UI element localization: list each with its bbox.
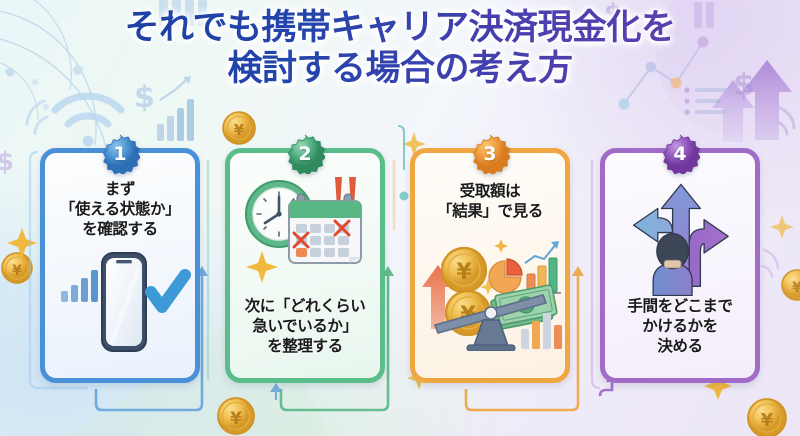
card-2-line-2: 急いでいるか」 bbox=[245, 316, 366, 336]
card-4-line-2: かけるかを bbox=[627, 316, 732, 336]
wifi-icon bbox=[762, 250, 778, 276]
card-4-text: 手間をどこまで かけるかを 決める bbox=[627, 296, 732, 356]
yen-coin-icon: ¥ bbox=[782, 270, 800, 300]
card-2-text: 次に「どれくらい 急いでいるか」 を整理する bbox=[245, 296, 366, 356]
dollar-sign-icon: $ bbox=[0, 147, 14, 177]
step-number: 1 bbox=[113, 143, 126, 165]
step-number: 2 bbox=[298, 143, 311, 165]
signal-bars-icon bbox=[61, 270, 98, 302]
svg-text:¥: ¥ bbox=[230, 409, 242, 429]
card-3-line-1: 受取額は bbox=[437, 181, 543, 201]
card-3-line-2: 「結果」で見る bbox=[437, 201, 543, 221]
card-3-text: 受取額は 「結果」で見る bbox=[437, 181, 543, 221]
list-icon bbox=[684, 87, 727, 114]
step-card-2[interactable]: 2 bbox=[225, 148, 385, 383]
card-4-line-3: 決める bbox=[627, 336, 732, 356]
yen-coin-icon: ¥ bbox=[748, 399, 786, 436]
card-2-line-3: を整理する bbox=[245, 336, 366, 356]
step-badge-3: 3 bbox=[470, 134, 510, 174]
step-number: 4 bbox=[673, 143, 686, 165]
card-4-illustration bbox=[607, 177, 753, 296]
step-badge-2: 2 bbox=[285, 134, 325, 174]
yen-coin-icon: ¥ bbox=[218, 398, 254, 434]
card-1-line-1: まず bbox=[60, 179, 180, 199]
pie-chart-icon bbox=[489, 259, 522, 293]
calendar-icon bbox=[289, 194, 361, 263]
card-2-illustration bbox=[232, 169, 378, 287]
svg-text:¥: ¥ bbox=[12, 263, 22, 279]
step-card-4[interactable]: 4 bbox=[600, 148, 760, 383]
card-1-line-2: 「使える状態か」 bbox=[60, 199, 180, 219]
yen-coin-icon: ¥ bbox=[442, 248, 486, 292]
card-1-illustration bbox=[47, 247, 193, 359]
yen-coin-icon: ¥ bbox=[223, 112, 255, 144]
page-title: それでも携帯キャリア決済現金化を 検討する場合の考え方 bbox=[0, 8, 800, 90]
step-badge-4: 4 bbox=[660, 134, 700, 174]
wifi-icon bbox=[777, 108, 794, 134]
card-2-line-1: 次に「どれくらい bbox=[245, 296, 366, 316]
title-line-2: 検討する場合の考え方 bbox=[0, 49, 800, 90]
card-1-text: まず 「使える状態か」 を確認する bbox=[60, 179, 180, 239]
step-arrow bbox=[398, 126, 409, 201]
card-4-line-1: 手間をどこまで bbox=[627, 296, 732, 316]
step-number: 3 bbox=[483, 143, 496, 165]
svg-text:¥: ¥ bbox=[456, 260, 472, 285]
svg-text:¥: ¥ bbox=[792, 280, 800, 296]
checkmark-icon bbox=[151, 275, 185, 307]
infographic-canvas: $ $ bbox=[0, 0, 800, 436]
wifi-icon bbox=[27, 101, 47, 133]
card-1-line-3: を確認する bbox=[60, 219, 180, 239]
step-card-1[interactable]: 1 まず 「使える状態か」 を確認する bbox=[40, 148, 200, 383]
step-arrow bbox=[270, 383, 282, 400]
title-line-1: それでも携帯キャリア決済現金化を bbox=[0, 8, 800, 49]
card-3-illustration: ¥ ¥ bbox=[417, 225, 563, 351]
smartphone-icon bbox=[102, 253, 146, 351]
yen-coin-icon: ¥ bbox=[2, 253, 32, 283]
svg-text:¥: ¥ bbox=[761, 410, 774, 431]
sparkle-icon bbox=[246, 251, 278, 283]
step-card-3[interactable]: 3 受取額は 「結果」で見る bbox=[410, 148, 570, 383]
bar-chart-icon bbox=[523, 241, 561, 293]
svg-text:¥: ¥ bbox=[234, 121, 245, 139]
step-badge-1: 1 bbox=[100, 134, 140, 174]
